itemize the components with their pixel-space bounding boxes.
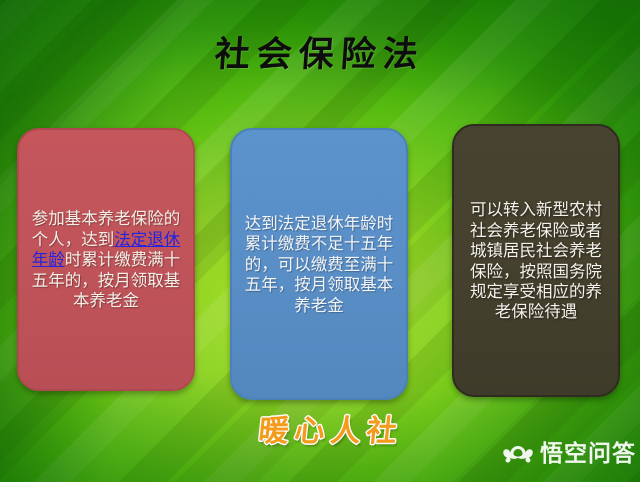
watermark-label: 悟空问答 [540, 443, 636, 466]
slide-canvas: 社会保险法 参加基本养老保险的个人，达到法定退休年龄时累计缴费满十五年的，按月领… [0, 0, 640, 482]
info-card-olive: 可以转入新型农村社会养老保险或者城镇居民社会养老保险，按照国务院规定享受相应的养… [452, 124, 620, 397]
info-card-olive-text: 可以转入新型农村社会养老保险或者城镇居民社会养老保险，按照国务院规定享受相应的养… [454, 194, 618, 327]
watermark: 悟空问答 [503, 443, 636, 466]
page-title: 社会保险法 [0, 26, 640, 77]
info-card-red-text: 参加基本养老保险的个人，达到法定退休年龄时累计缴费满十五年的，按月领取基本养老金 [19, 203, 193, 315]
brand-signature: 暖心人社 [224, 406, 439, 450]
wukong-headband-icon [503, 444, 533, 466]
info-card-blue-text: 达到法定退休年龄时累计缴费不足十五年的，可以缴费至满十五年，按月领取基本养老金 [232, 208, 406, 320]
info-card-blue: 达到法定退休年龄时累计缴费不足十五年的，可以缴费至满十五年，按月领取基本养老金 [230, 128, 408, 400]
info-card-red: 参加基本养老保险的个人，达到法定退休年龄时累计缴费满十五年的，按月领取基本养老金 [17, 128, 195, 391]
